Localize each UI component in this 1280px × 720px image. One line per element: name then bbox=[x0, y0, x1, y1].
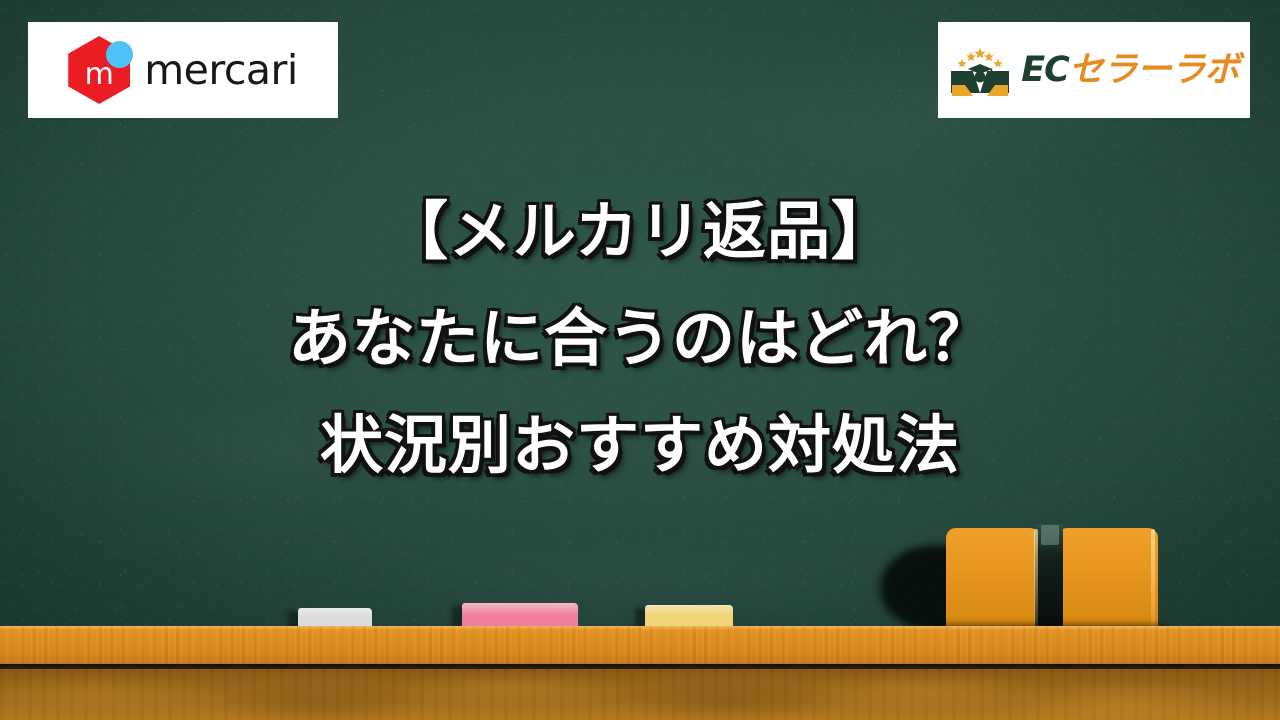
ec-seller-lab-logo-box: ECセラーラボ bbox=[938, 22, 1250, 118]
mercari-wordmark: mercari bbox=[144, 50, 298, 91]
mercari-logo-box: m mercari bbox=[28, 22, 338, 118]
title-block: 【メルカリ返品】 あなたに合うのはどれ？ 状況別おすすめ対処法 bbox=[0, 178, 1280, 499]
chalk-ledge-grain bbox=[0, 626, 1280, 666]
eraser-body-right bbox=[1057, 528, 1158, 631]
title-line-3: 状況別おすすめ対処法 bbox=[0, 392, 1280, 499]
ec-seller-lab-jp-text: セラーラボ bbox=[1069, 50, 1239, 90]
graduation-cap-icon bbox=[949, 41, 1011, 99]
thumbnail-canvas: m mercari bbox=[0, 0, 1280, 720]
eraser-edge-highlight-right bbox=[1151, 529, 1155, 629]
ec-seller-lab-logo: ECセラーラボ bbox=[949, 41, 1239, 99]
mercari-logo: m mercari bbox=[68, 36, 298, 104]
chalk-ledge-highlight bbox=[0, 626, 1280, 630]
ec-seller-lab-wordmark: ECセラーラボ bbox=[1021, 53, 1239, 88]
ec-seller-lab-ec-text: EC bbox=[1021, 50, 1069, 90]
title-line-2: あなたに合うのはどれ？ bbox=[0, 285, 1280, 392]
eraser-strap-highlight bbox=[1041, 525, 1059, 545]
chalk-ledge bbox=[0, 626, 1280, 666]
eraser-edge-highlight-left bbox=[1034, 529, 1038, 629]
blackboard-eraser bbox=[946, 528, 1158, 631]
wooden-floor bbox=[0, 669, 1280, 720]
mercari-hexagon-icon: m bbox=[68, 36, 130, 104]
wooden-floor-texture bbox=[0, 669, 1280, 720]
title-line-1: 【メルカリ返品】 bbox=[0, 178, 1280, 285]
eraser-body-left bbox=[946, 528, 1040, 631]
